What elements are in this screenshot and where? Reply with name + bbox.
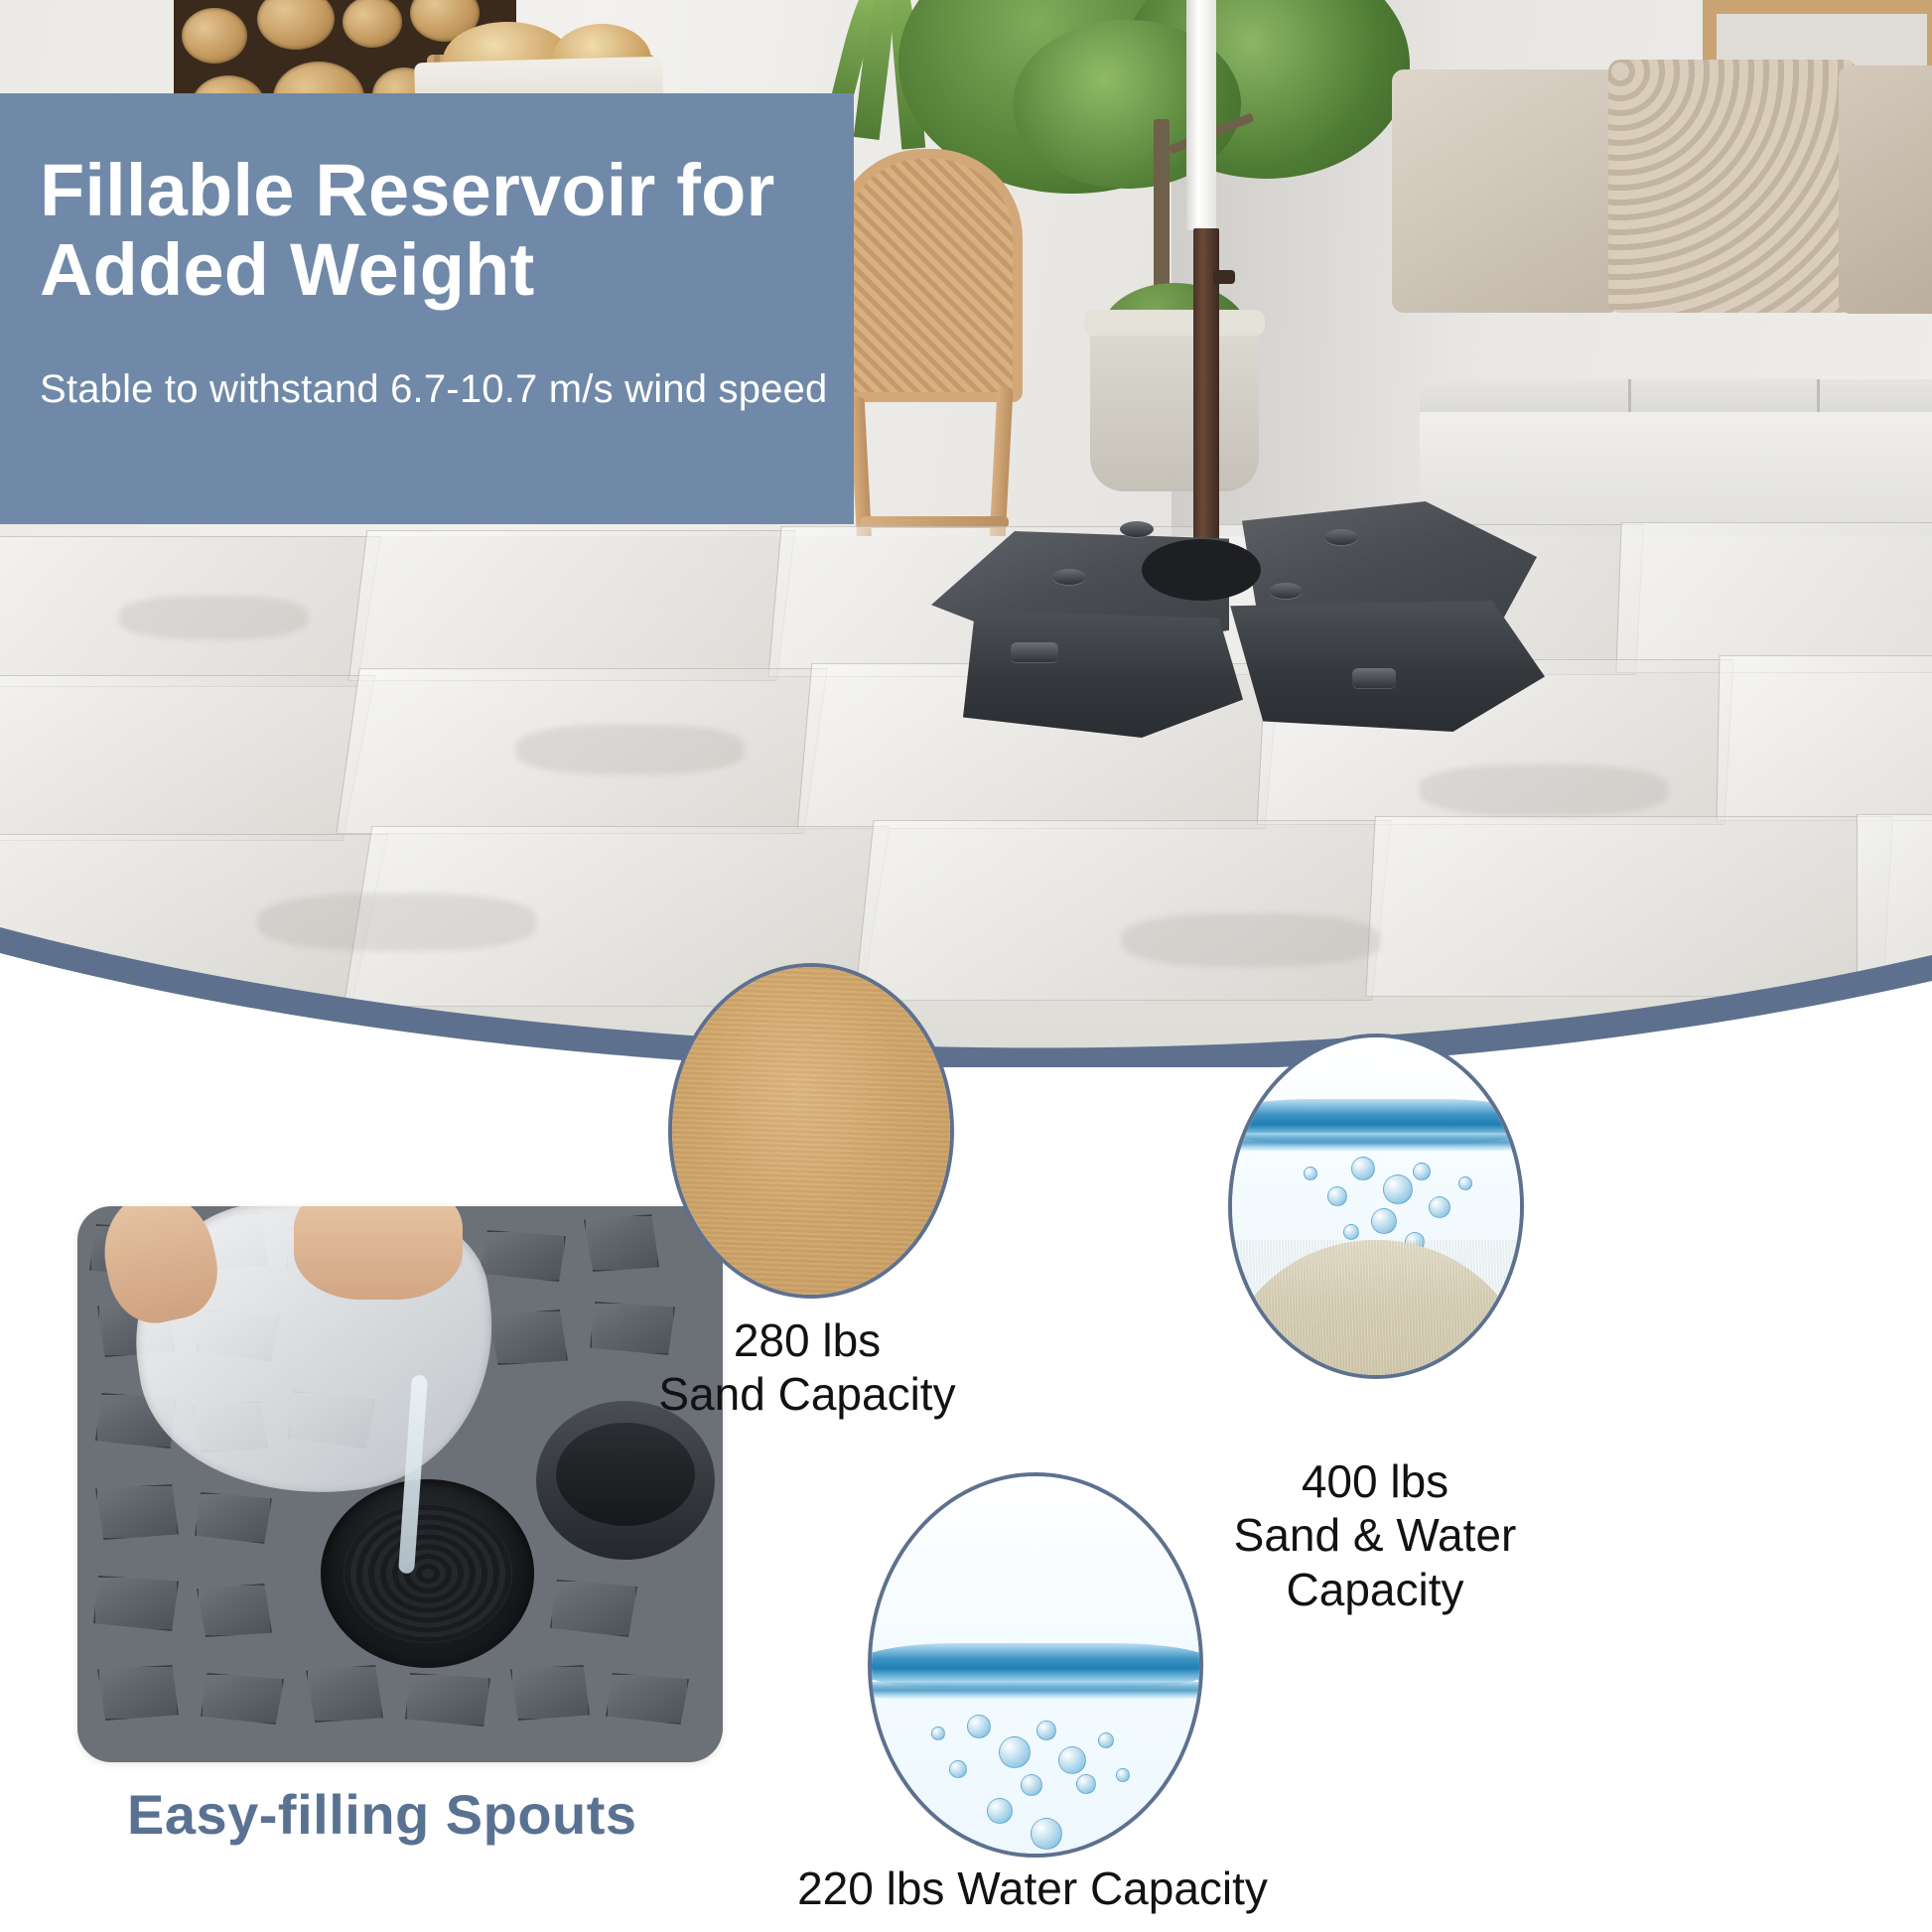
spout-cap <box>536 1401 715 1560</box>
sand-grain-overlay <box>1228 1240 1524 1379</box>
sand-water-capacity-caption: 400 lbs Sand & Water Capacity <box>1142 1454 1608 1616</box>
easy-filling-spouts-photo <box>77 1206 723 1762</box>
bubble <box>1031 1818 1062 1850</box>
sand-capacity-caption: 280 lbs Sand Capacity <box>619 1313 996 1422</box>
features-panel: Easy-filling Spouts 280 lbs Sand Capacit… <box>0 1067 1932 1932</box>
headline-subtitle: Stable to withstand 6.7-10.7 m/s wind sp… <box>0 310 854 412</box>
umbrella-pole-upper <box>1186 0 1216 230</box>
bubble <box>1058 1746 1086 1774</box>
fill-port-threads <box>344 1504 512 1643</box>
bubble <box>1413 1163 1431 1180</box>
tread-pattern <box>306 1665 383 1723</box>
lifestyle-photo-scene: Fillable Reservoir for Added Weight Stab… <box>0 0 1932 1067</box>
floor-mark <box>1420 764 1668 816</box>
floor-tile <box>348 530 796 681</box>
log <box>343 0 402 48</box>
bubble <box>1076 1774 1096 1794</box>
tread-pattern <box>584 1214 659 1272</box>
bubble <box>967 1715 991 1738</box>
tread-pattern <box>197 1584 272 1637</box>
sand-mound <box>1228 1240 1524 1379</box>
tread-pattern <box>405 1673 490 1726</box>
page-title: Fillable Reservoir for Added Weight <box>0 93 854 310</box>
tread-pattern <box>97 1665 179 1721</box>
headline-card: Fillable Reservoir for Added Weight Stab… <box>0 93 854 524</box>
pole-adjust-knob <box>1213 270 1235 284</box>
bubble <box>1429 1196 1450 1218</box>
headline-line-1: Fillable Reservoir for <box>40 149 775 231</box>
water-surface-wave <box>868 1681 1203 1699</box>
throw-pillow-textured <box>1608 60 1857 313</box>
tread-pattern <box>510 1665 590 1721</box>
floor-tile <box>1615 522 1932 673</box>
bubble <box>931 1726 945 1740</box>
headline-line-2: Added Weight <box>40 228 534 311</box>
sand-water-capacity-circle <box>1228 1034 1524 1379</box>
tread-pattern <box>201 1673 284 1725</box>
bubble <box>1036 1721 1056 1740</box>
tread-pattern <box>550 1580 637 1637</box>
floor-mark <box>119 596 308 639</box>
umbrella-base-assembly <box>923 491 1598 740</box>
hand-fingers <box>294 1206 463 1300</box>
bubble <box>1351 1157 1375 1180</box>
sand-grain-overlay <box>672 967 950 1295</box>
bubble <box>1098 1732 1114 1748</box>
throw-pillow <box>1839 66 1932 314</box>
bubble <box>999 1736 1031 1768</box>
bubble <box>1371 1208 1397 1234</box>
tread-pattern <box>195 1492 272 1544</box>
tread-pattern <box>488 1310 568 1365</box>
bubble <box>1458 1176 1472 1190</box>
bubble <box>1343 1224 1359 1240</box>
planter-pot <box>1090 318 1259 491</box>
sand-capacity-circle <box>668 963 954 1299</box>
bubble <box>1383 1174 1413 1204</box>
base-handle-slot <box>1352 668 1396 688</box>
floor-tile <box>1717 655 1932 821</box>
bubble <box>1116 1768 1130 1782</box>
tread-pattern <box>95 1484 179 1540</box>
tread-pattern <box>606 1673 689 1725</box>
water-surface-wave <box>1228 1133 1524 1151</box>
curved-divider <box>0 854 1932 1067</box>
bubble <box>987 1798 1013 1824</box>
base-fill-cap <box>1120 521 1154 537</box>
log <box>257 0 335 50</box>
bubble <box>949 1760 967 1778</box>
rattan-chair-back <box>834 149 1023 402</box>
base-plate-front-left <box>945 611 1243 738</box>
base-fill-cap <box>1052 569 1086 585</box>
infographic-root: Fillable Reservoir for Added Weight Stab… <box>0 0 1932 1932</box>
base-handle-slot <box>1011 642 1058 662</box>
bubble <box>1327 1186 1347 1206</box>
log <box>182 8 247 64</box>
water-capacity-caption: 220 lbs Water Capacity <box>755 1862 1311 1915</box>
floor-mark <box>516 725 745 774</box>
base-center-hub <box>1142 539 1261 601</box>
base-fill-cap <box>1324 529 1358 545</box>
base-fill-cap <box>1269 583 1303 599</box>
easy-filling-spouts-label: Easy-filling Spouts <box>127 1782 637 1847</box>
base-plate-front-right <box>1217 601 1545 732</box>
throw-pillow <box>1392 69 1620 313</box>
bubble <box>1304 1167 1317 1180</box>
floor-tile <box>0 675 375 841</box>
bubble <box>1021 1774 1042 1796</box>
tread-pattern <box>481 1230 566 1282</box>
tread-pattern <box>93 1576 179 1631</box>
